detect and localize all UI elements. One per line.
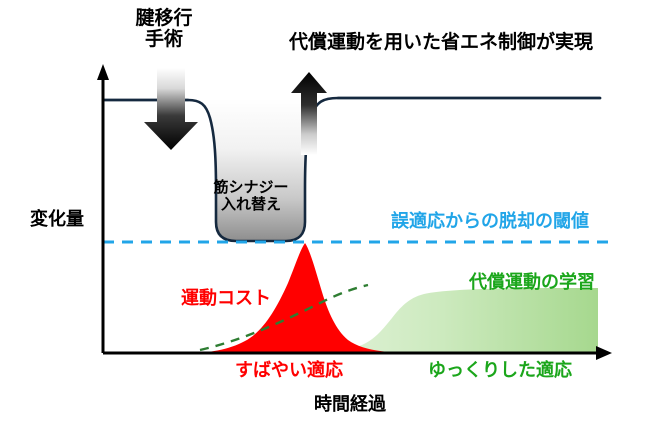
label-synergy-line2: 入れ替え [213, 197, 288, 214]
label-synergy-line1: 筋シナジー [213, 180, 288, 197]
x-axis-arrow-icon [596, 346, 612, 360]
label-motor-cost: 運動コスト [181, 288, 271, 308]
y-axis-arrow-icon [97, 64, 109, 80]
label-maladaptation-escape-threshold: 誤適応からの脱却の閾値 [391, 211, 589, 231]
label-fast-adaptation: すばやい適応 [235, 360, 343, 380]
label-surgery-line2: 手術 [135, 29, 192, 50]
label-energy-saving-control: 代償運動を用いた省エネ制御が実現 [289, 32, 593, 53]
label-muscle-synergy-replacement: 筋シナジー 入れ替え [213, 180, 288, 214]
label-y-axis-amount-of-change: 変化量 [30, 209, 84, 229]
label-slow-adaptation: ゆっくりした適応 [428, 360, 572, 380]
label-tendon-transfer-surgery: 腱移行 手術 [135, 8, 192, 51]
label-x-axis-elapsed-time: 時間経過 [314, 394, 386, 414]
down-arrow-icon [144, 68, 198, 150]
label-compensatory-movement-learning: 代償運動の学習 [469, 272, 595, 292]
label-surgery-line1: 腱移行 [135, 8, 192, 29]
figure-root: 腱移行 手術 代償運動を用いた省エネ制御が実現 筋シナジー 入れ替え 誤適応から… [0, 0, 670, 425]
